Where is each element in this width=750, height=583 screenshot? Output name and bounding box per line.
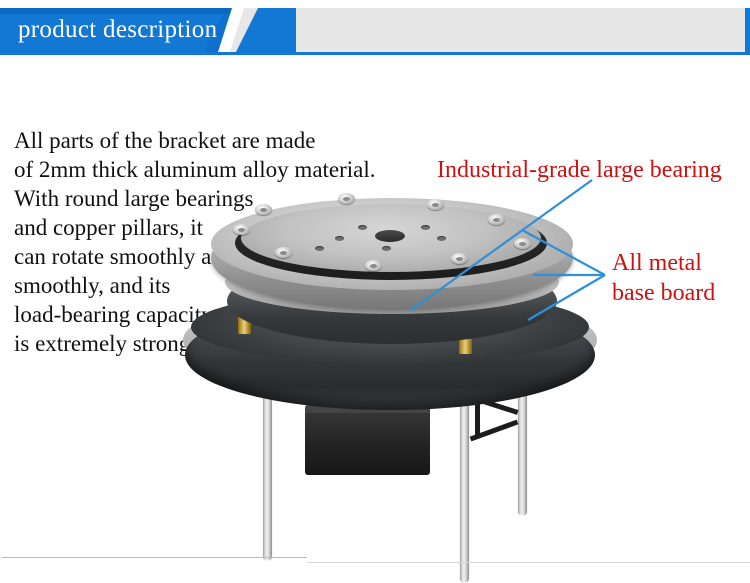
leader-line-bearing bbox=[410, 180, 592, 311]
footer-divider-right bbox=[307, 562, 750, 563]
callout-label-bearing: Industrial-grade large bearing bbox=[437, 156, 722, 184]
leader-line-base-upper bbox=[522, 230, 605, 275]
footer-divider-left bbox=[2, 557, 307, 558]
callout-label-base-board: All metal base board bbox=[612, 248, 715, 308]
leader-line-base-lower bbox=[528, 275, 605, 320]
page-root: product description All parts of the bra… bbox=[0, 0, 750, 583]
